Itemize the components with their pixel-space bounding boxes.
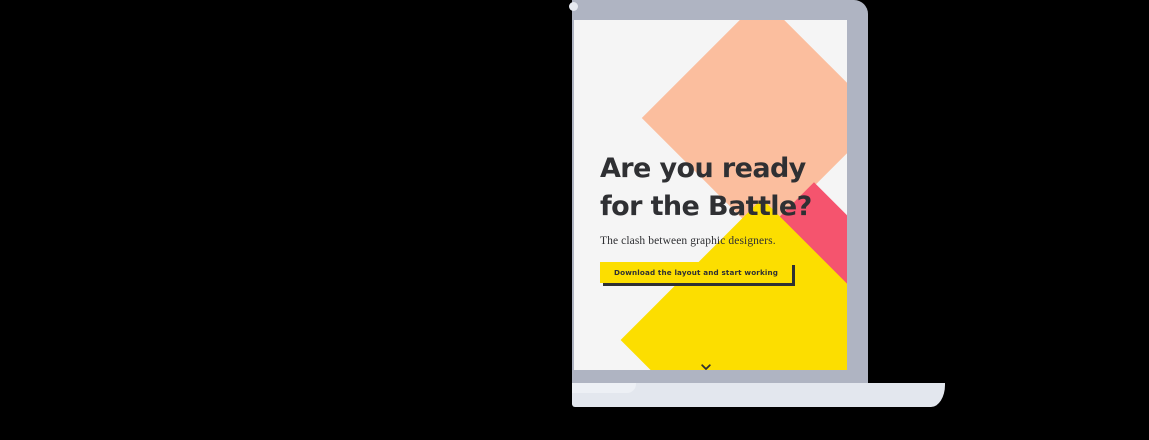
page-subtitle: The clash between graphic designers. — [600, 234, 847, 248]
camera-dot-icon — [569, 2, 578, 11]
canvas: Are you ready for the Battle? The clash … — [0, 0, 1149, 440]
laptop-base-notch — [572, 383, 636, 393]
laptop-screen: Are you ready for the Battle? The clash … — [574, 20, 847, 370]
cta-wrapper: Download the layout and start working — [600, 262, 792, 283]
hero-section: Are you ready for the Battle? The clash … — [600, 150, 847, 283]
page-title: Are you ready for the Battle? — [600, 150, 845, 226]
chevron-down-icon[interactable] — [699, 360, 713, 370]
download-layout-button[interactable]: Download the layout and start working — [600, 262, 792, 283]
